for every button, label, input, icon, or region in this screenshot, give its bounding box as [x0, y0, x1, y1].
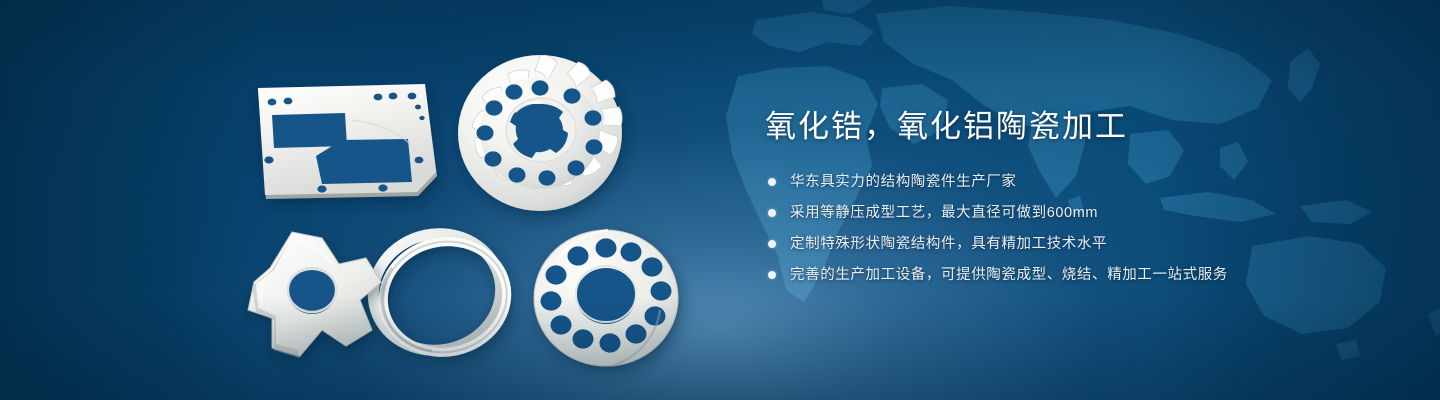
list-item: 定制特殊形状陶瓷结构件，具有精加工技术水平 [765, 234, 1385, 254]
bullet-dot-icon [768, 178, 776, 186]
list-item: 完善的生产加工设备，可提供陶瓷成型、烧结、精加工一站式服务 [765, 265, 1385, 285]
hero-banner: 氧化锆，氧化铝陶瓷加工 华东具实力的结构陶瓷件生产厂家 采用等静压成型工艺，最大… [0, 0, 1440, 400]
feature-list: 华东具实力的结构陶瓷件生产厂家 采用等静压成型工艺，最大直径可做到600mm 定… [765, 172, 1385, 285]
banner-text-column: 氧化锆，氧化铝陶瓷加工 华东具实力的结构陶瓷件生产厂家 采用等静压成型工艺，最大… [765, 108, 1385, 296]
page-title: 氧化锆，氧化铝陶瓷加工 [765, 108, 1385, 146]
list-item: 华东具实力的结构陶瓷件生产厂家 [765, 172, 1385, 192]
list-item-label: 采用等静压成型工艺，最大直径可做到600mm [790, 203, 1098, 223]
list-item-label: 定制特殊形状陶瓷结构件，具有精加工技术水平 [790, 234, 1107, 254]
bullet-dot-icon [768, 271, 776, 279]
list-item-label: 华东具实力的结构陶瓷件生产厂家 [790, 172, 1017, 192]
bullet-dot-icon [768, 209, 776, 217]
list-item: 采用等静压成型工艺，最大直径可做到600mm [765, 203, 1385, 223]
bullet-dot-icon [768, 240, 776, 248]
list-item-label: 完善的生产加工设备，可提供陶瓷成型、烧结、精加工一站式服务 [790, 265, 1228, 285]
